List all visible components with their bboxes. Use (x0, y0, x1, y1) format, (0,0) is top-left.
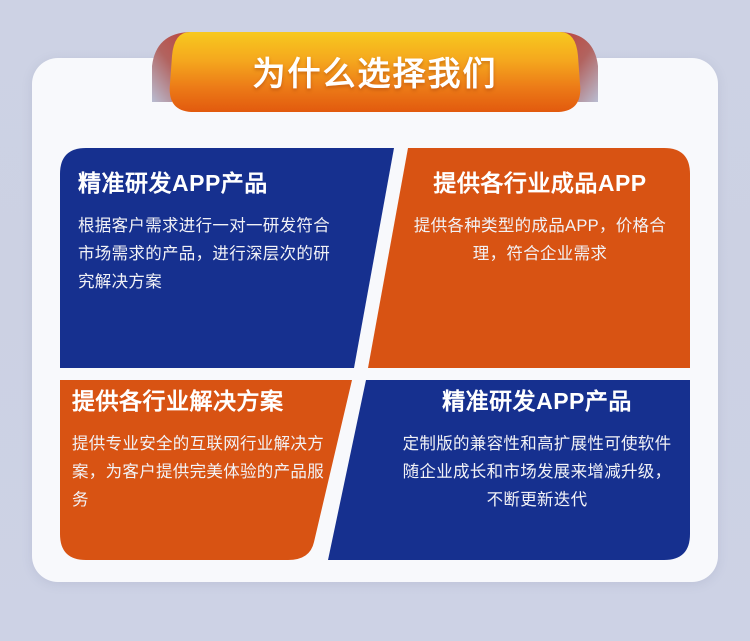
card-title-bottom-right: 精准研发APP产品 (398, 388, 676, 416)
feature-card-grid: 精准研发APP产品 根据客户需求进行一对一研发符合市场需求的产品，进行深层次的研… (32, 58, 718, 582)
card-title-bottom-left: 提供各行业解决方案 (72, 388, 334, 416)
promo-graphic-root: 精准研发APP产品 根据客户需求进行一对一研发符合市场需求的产品，进行深层次的研… (0, 0, 750, 641)
card-text-top-right: 提供各行业成品APP 提供各种类型的成品APP，价格合理，符合企业需求 (404, 170, 676, 268)
card-body-top-left: 根据客户需求进行一对一研发符合市场需求的产品，进行深层次的研究解决方案 (78, 212, 336, 297)
card-text-bottom-left: 提供各行业解决方案 提供专业安全的互联网行业解决方案，为客户提供完美体验的产品服… (72, 388, 334, 515)
banner-title: 为什么选择我们 (0, 47, 750, 95)
card-title-top-right: 提供各行业成品APP (404, 170, 676, 198)
card-body-bottom-left: 提供专业安全的互联网行业解决方案，为客户提供完美体验的产品服务 (72, 430, 334, 515)
card-body-bottom-right: 定制版的兼容性和高扩展性可使软件随企业成长和市场发展来增减升级，不断更新迭代 (398, 430, 676, 515)
card-text-top-left: 精准研发APP产品 根据客户需求进行一对一研发符合市场需求的产品，进行深层次的研… (78, 170, 336, 297)
card-body-top-right: 提供各种类型的成品APP，价格合理，符合企业需求 (404, 212, 676, 269)
card-text-bottom-right: 精准研发APP产品 定制版的兼容性和高扩展性可使软件随企业成长和市场发展来增减升… (398, 388, 676, 515)
card-title-top-left: 精准研发APP产品 (78, 170, 336, 198)
